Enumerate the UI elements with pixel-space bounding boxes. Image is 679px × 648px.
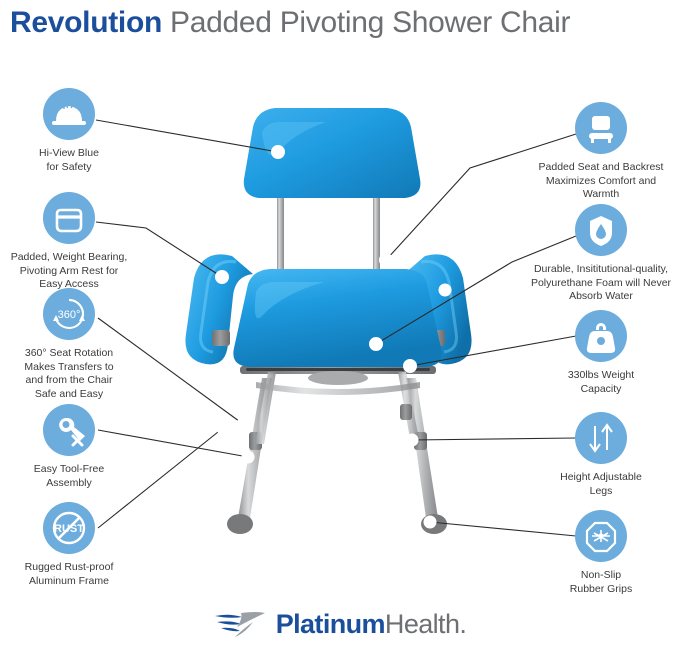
up-down-arrows-icon [575,412,627,464]
arm-rest-icon [43,192,95,244]
callout-rust-proof-frame[interactable]: RUST Rugged Rust-proof Aluminum Frame [0,502,144,588]
callout-padded-seat-backrest[interactable]: Padded Seat and Backrest Maximizes Comfo… [526,102,676,202]
hotspot-dot-backrest [272,146,285,159]
hotspot-dot-leg-left-upper [237,418,249,430]
hotspot-dot-backrest-right [380,254,393,267]
hotspot-dot-armrest-left [216,271,229,284]
hotspot-dot-leg-right [406,434,418,446]
callout-caption: Padded Seat and Backrest Maximizes Comfo… [526,161,676,202]
callout-tool-free-assembly[interactable]: Easy Tool-Free Assembly [0,404,144,490]
rotation-label: 360° [58,309,81,321]
wing-logo-icon [213,607,267,641]
callout-polyurethane-foam[interactable]: Durable, Insititutional-quality, Polyure… [526,204,676,304]
no-rust-icon: RUST [43,502,95,554]
logo-platinum: Platinum [276,609,385,639]
callout-non-slip-grips[interactable]: Non-Slip Rubber Grips [526,510,676,596]
wrench-no-tools-icon [43,404,95,456]
callout-seat-rotation[interactable]: 360° 360° Seat Rotation Makes Transfers … [0,288,144,401]
hotspot-dot-seat-edge [404,360,417,373]
callout-caption: Easy Tool-Free Assembly [0,463,144,490]
weight-icon [575,310,627,362]
logo-health: Health. [385,609,466,639]
callout-padded-arm-rest[interactable]: Padded, Weight Bearing, Pivoting Arm Res… [0,192,144,292]
callout-height-adjustable-legs[interactable]: Height Adjustable Legs [526,412,676,498]
hotspot-dot-foot-right [424,516,436,528]
callout-caption: Durable, Insititutional-quality, Polyure… [526,263,676,304]
callout-caption: Non-Slip Rubber Grips [526,569,676,596]
hard-hat-icon [43,88,95,140]
callout-weight-capacity[interactable]: 330lbs Weight Capacity [526,310,676,396]
non-slip-grip-icon [575,510,627,562]
callout-hi-view-blue[interactable]: Hi-View Blue for Safety [0,88,144,174]
hotspot-dot-leg-left-lower [242,451,254,463]
callout-caption: 360° Seat Rotation Makes Transfers to an… [0,347,144,401]
callout-caption: Rugged Rust-proof Aluminum Frame [0,561,144,588]
callout-caption: Padded, Weight Bearing, Pivoting Arm Res… [0,251,144,292]
logo-wordmark: PlatinumHealth. [276,609,467,640]
callout-caption: 330lbs Weight Capacity [526,369,676,396]
hotspot-dot-armrest-right [439,284,451,296]
callout-caption: Height Adjustable Legs [526,471,676,498]
brand-logo: PlatinumHealth. [0,600,679,648]
callout-caption: Hi-View Blue for Safety [0,147,144,174]
hotspot-dot-seat-right [370,338,383,351]
water-drop-shield-icon [575,204,627,256]
rotation-360-icon: 360° [43,288,95,340]
padded-seat-icon [575,102,627,154]
